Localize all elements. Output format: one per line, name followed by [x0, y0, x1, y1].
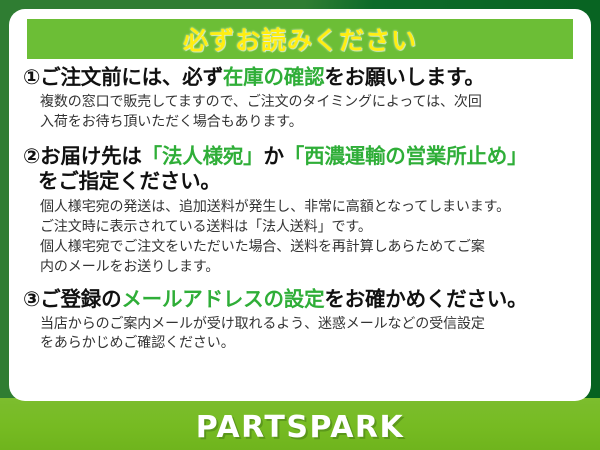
notice-item-2-heading-highlight-2: 「西濃運輸の営業所止め」 [284, 144, 528, 168]
notice-frame: PARTSPARK 必ずお読みください ①ご注文前には、必ず在庫の確認をお願いし… [0, 0, 600, 450]
notice-item-2: ②お届け先は「法人様宛」か「西濃運輸の営業所止め」 をご指定ください。 個人様宅… [23, 144, 579, 278]
notice-item-1-body: 複数の窓口で販売してますので、ご注文のタイミングによっては、次回 入荷をお待ち頂… [40, 93, 579, 133]
notice-item-2-body-line-3: 個人様宅宛でご注文をいただいた場合、送料を再計算しあらためてご案 [40, 238, 579, 258]
notice-item-1-heading: ①ご注文前には、必ず在庫の確認をお願いします。 [23, 65, 579, 91]
header-banner: 必ずお読みください [27, 19, 573, 59]
notice-item-3-heading: ③ご登録のメールアドレスの設定をお確かめください。 [23, 287, 579, 313]
notice-item-1-heading-part-1: ご注文前には、必ず [40, 65, 223, 89]
notice-item-1: ①ご注文前には、必ず在庫の確認をお願いします。 複数の窓口で販売してますので、ご… [23, 65, 579, 133]
brand-logo: PARTSPARK [0, 410, 600, 445]
notice-item-2-body: 個人様宅宛の発送は、追加送料が発生し、非常に高額となってしまいます。 ご注文時に… [40, 198, 579, 278]
notice-item-2-body-line-2: ご注文時に表示されている送料は「法人送料」です。 [40, 218, 579, 238]
notice-item-1-heading-highlight: 在庫の確認 [223, 65, 325, 89]
notice-item-2-heading-highlight-1: 「法人様宛」 [142, 144, 264, 168]
notice-card: 必ずお読みください ①ご注文前には、必ず在庫の確認をお願いします。 複数の窓口で… [9, 9, 591, 401]
notice-item-2-heading-part-1: お届け先は [40, 144, 142, 168]
notice-item-3-body: 当店からのご案内メールが受け取れるよう、迷惑メールなどの受信設定 をあらかじめご… [40, 315, 579, 355]
notice-item-2-heading: ②お届け先は「法人様宛」か「西濃運輸の営業所止め」 [23, 144, 579, 170]
notice-item-3-heading-part-3: をお確かめください。 [324, 287, 527, 311]
notice-item-1-heading-part-3: をお願いします。 [324, 65, 484, 89]
notice-item-3-body-line-1: 当店からのご案内メールが受け取れるよう、迷惑メールなどの受信設定 [40, 315, 579, 335]
notice-item-3: ③ご登録のメールアドレスの設定をお確かめください。 当店からのご案内メールが受け… [23, 287, 579, 355]
notice-item-2-number: ② [23, 144, 40, 168]
notice-item-3-heading-highlight: メールアドレスの設定 [121, 287, 324, 311]
footer-band: PARTSPARK [0, 398, 600, 450]
notice-item-2-body-line-1: 個人様宅宛の発送は、追加送料が発生し、非常に高額となってしまいます。 [40, 198, 579, 218]
notice-item-2-heading-part-3: か [263, 144, 283, 168]
notice-item-1-body-line-2: 入荷をお待ち頂いただく場合もあります。 [40, 113, 579, 133]
notice-content: ①ご注文前には、必ず在庫の確認をお願いします。 複数の窓口で販売してますので、ご… [23, 65, 579, 397]
notice-item-3-number: ③ [23, 287, 40, 311]
notice-item-2-heading-line-2: をご指定ください。 [38, 169, 579, 195]
notice-item-1-body-line-1: 複数の窓口で販売してますので、ご注文のタイミングによっては、次回 [40, 93, 579, 113]
notice-item-3-body-line-2: をあらかじめご確認ください。 [40, 334, 579, 354]
notice-item-1-number: ① [23, 65, 40, 89]
page-title: 必ずお読みください [183, 21, 417, 57]
notice-item-2-body-line-4: 内のメールをお送りします。 [40, 258, 579, 278]
notice-item-3-heading-part-1: ご登録の [40, 287, 121, 311]
